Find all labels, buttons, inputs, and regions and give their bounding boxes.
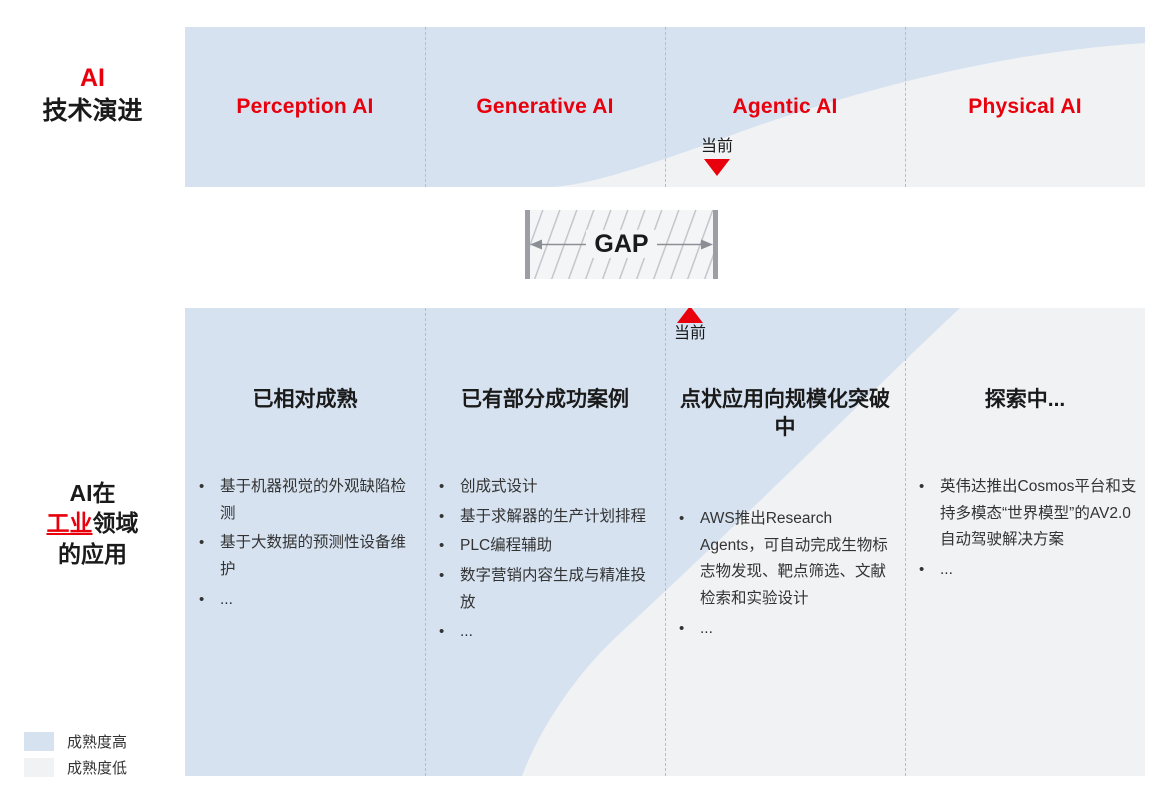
bullet-dot-icon: • [439, 504, 460, 531]
application-label-highlight: 工业 [47, 510, 93, 536]
body-heading-perception: 已相对成熟 [195, 386, 415, 414]
header-current-marker: 当前 [672, 138, 762, 176]
bullet-text: 基于机器视觉的外观缺陷检测 [220, 474, 417, 527]
bullet-text: ... [940, 557, 1137, 584]
application-label-line2-rest: 领域 [93, 510, 139, 536]
legend-label-high: 成熟度高 [67, 731, 127, 752]
body-bullets-physical: • 英伟达推出Cosmos平台和支持多模态“世界模型”的AV2.0自动驾驶解决方… [919, 474, 1137, 587]
body-heading-generative: 已有部分成功案例 [435, 386, 655, 414]
triangle-down-icon [704, 159, 730, 176]
body-column-physical[interactable]: 探索中... • 英伟达推出Cosmos平台和支持多模态“世界模型”的AV2.0… [905, 308, 1145, 776]
bullet-text: ... [460, 619, 657, 646]
body-heading-agentic: 点状应用向规模化突破中 [675, 386, 895, 443]
body-current-marker: 当前 [645, 308, 735, 343]
legend-swatch-low [24, 758, 54, 777]
list-item: • ... [439, 619, 657, 646]
bullet-text: AWS推出Research Agents，可自动完成生物标志物发现、靶点筛选、文… [700, 506, 897, 613]
bullet-dot-icon: • [199, 474, 220, 527]
body-column-generative[interactable]: 已有部分成功案例 • 创成式设计 • 基于求解器的生产计划排程 • PLC编程辅… [425, 308, 665, 776]
header-column-generative[interactable]: Generative AI [425, 27, 665, 187]
bullet-text: ... [700, 616, 897, 643]
gap-label: GAP [586, 229, 656, 257]
list-item: • ... [919, 557, 1137, 584]
list-item: • 创成式设计 [439, 474, 657, 501]
bullet-dot-icon: • [199, 587, 220, 614]
header-columns: Perception AI Generative AI Agentic AI P… [185, 27, 1145, 187]
body-bullets-agentic: • AWS推出Research Agents，可自动完成生物标志物发现、靶点筛选… [679, 506, 897, 645]
legend-label-low: 成熟度低 [67, 757, 127, 778]
gap-indicator: GAP [525, 210, 718, 279]
bullet-dot-icon: • [919, 557, 940, 584]
bullet-text: PLC编程辅助 [460, 533, 657, 560]
bullet-dot-icon: • [439, 563, 460, 616]
maturity-legend: 成熟度高 成熟度低 [24, 728, 127, 780]
gap-label-wrapper: GAP [525, 229, 718, 258]
application-label-line3: 的应用 [0, 539, 185, 569]
evolution-label-line2: 技术演进 [0, 95, 185, 128]
triangle-up-icon [677, 308, 703, 323]
header-current-marker-label: 当前 [672, 138, 762, 156]
body-columns: 已相对成熟 • 基于机器视觉的外观缺陷检测 • 基于大数据的预测性设备维护 • … [185, 308, 1145, 776]
body-current-marker-label: 当前 [645, 325, 735, 343]
legend-swatch-high [24, 732, 54, 751]
bullet-text: ... [220, 587, 417, 614]
bullet-text: 基于求解器的生产计划排程 [460, 504, 657, 531]
list-item: • AWS推出Research Agents，可自动完成生物标志物发现、靶点筛选… [679, 506, 897, 613]
bullet-dot-icon: • [439, 474, 460, 501]
bullet-dot-icon: • [679, 506, 700, 613]
list-item: • 数字营销内容生成与精准投放 [439, 563, 657, 616]
evolution-label-line1: AI [0, 62, 185, 95]
list-item: • 基于求解器的生产计划排程 [439, 504, 657, 531]
body-column-perception[interactable]: 已相对成熟 • 基于机器视觉的外观缺陷检测 • 基于大数据的预测性设备维护 • … [185, 308, 425, 776]
header-title-perception: Perception AI [185, 95, 425, 119]
header-title-agentic: Agentic AI [665, 95, 905, 119]
bullet-text: 创成式设计 [460, 474, 657, 501]
bullet-dot-icon: • [439, 619, 460, 646]
bullet-dot-icon: • [919, 474, 940, 554]
legend-item-low: 成熟度低 [24, 754, 127, 780]
list-item: • PLC编程辅助 [439, 533, 657, 560]
list-item: • ... [199, 587, 417, 614]
application-label-line1: AI在 [0, 478, 185, 508]
bullet-text: 基于大数据的预测性设备维护 [220, 530, 417, 583]
bullet-dot-icon: • [439, 533, 460, 560]
list-item: • 基于大数据的预测性设备维护 [199, 530, 417, 583]
application-label-line2: 工业领域 [0, 508, 185, 538]
evolution-section-label: AI 技术演进 [0, 62, 185, 128]
bullet-text: 英伟达推出Cosmos平台和支持多模态“世界模型”的AV2.0自动驾驶解决方案 [940, 474, 1137, 554]
ai-evolution-header-panel: Perception AI Generative AI Agentic AI P… [185, 27, 1145, 187]
application-section-label: AI在 工业领域 的应用 [0, 478, 185, 569]
header-column-physical[interactable]: Physical AI [905, 27, 1145, 187]
ai-application-body-panel: 已相对成熟 • 基于机器视觉的外观缺陷检测 • 基于大数据的预测性设备维护 • … [185, 308, 1145, 776]
list-item: • 英伟达推出Cosmos平台和支持多模态“世界模型”的AV2.0自动驾驶解决方… [919, 474, 1137, 554]
body-bullets-generative: • 创成式设计 • 基于求解器的生产计划排程 • PLC编程辅助 • 数字营销内… [439, 474, 657, 649]
body-bullets-perception: • 基于机器视觉的外观缺陷检测 • 基于大数据的预测性设备维护 • ... [199, 474, 417, 616]
bullet-dot-icon: • [199, 530, 220, 583]
list-item: • ... [679, 616, 897, 643]
list-item: • 基于机器视觉的外观缺陷检测 [199, 474, 417, 527]
body-heading-physical: 探索中... [915, 386, 1135, 414]
legend-item-high: 成熟度高 [24, 728, 127, 754]
header-title-physical: Physical AI [905, 95, 1145, 119]
header-title-generative: Generative AI [425, 95, 665, 119]
bullet-text: 数字营销内容生成与精准投放 [460, 563, 657, 616]
header-column-perception[interactable]: Perception AI [185, 27, 425, 187]
body-column-agentic[interactable]: 点状应用向规模化突破中 • AWS推出Research Agents，可自动完成… [665, 308, 905, 776]
bullet-dot-icon: • [679, 616, 700, 643]
